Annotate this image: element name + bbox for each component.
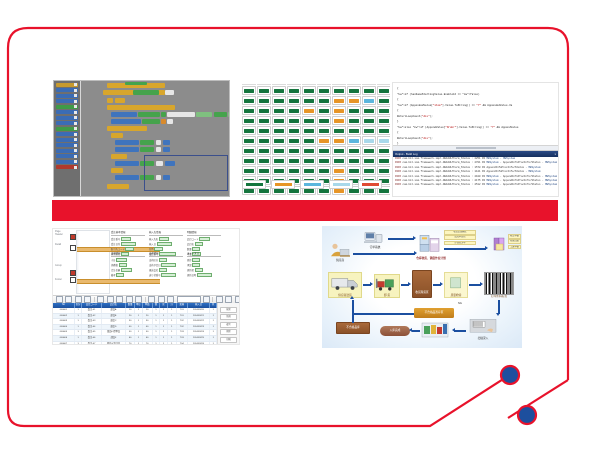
- status-cell[interactable]: [302, 106, 316, 115]
- data-grid-cell[interactable]: T02: [177, 319, 188, 324]
- data-grid-cell[interactable]: 1: [135, 308, 143, 313]
- workspace-block[interactable]: [214, 112, 227, 117]
- status-cell[interactable]: [302, 86, 316, 95]
- flow-node-order-system[interactable]: 订单系统: [362, 229, 388, 249]
- designer-field-value[interactable]: [192, 258, 200, 263]
- palette-block[interactable]: [56, 83, 78, 87]
- status-cell[interactable]: [347, 126, 361, 135]
- status-cell[interactable]: [347, 96, 361, 105]
- status-cell[interactable]: [257, 136, 271, 145]
- data-grid-cell[interactable]: 50: [126, 330, 135, 335]
- data-grid-cell[interactable]: 70: [126, 342, 135, 345]
- data-grid-cell[interactable]: 部品C: [102, 319, 127, 324]
- data-grid-cell[interactable]: 1: [160, 336, 168, 341]
- status-cell[interactable]: [302, 136, 316, 145]
- palette-block[interactable]: [56, 127, 78, 131]
- data-grid-row[interactable]: 0000071受注-07部品G 特注品70170111T042014/05/26…: [53, 342, 239, 345]
- status-cell[interactable]: [242, 146, 256, 155]
- palette-block[interactable]: [56, 149, 78, 153]
- data-grid-cell[interactable]: 部品B: [102, 314, 127, 319]
- designer-field-value[interactable]: [161, 273, 176, 278]
- palette-block[interactable]: [56, 116, 78, 120]
- data-grid-cell[interactable]: 1: [168, 342, 177, 345]
- status-cell[interactable]: [272, 126, 286, 135]
- designer-field-value[interactable]: [159, 268, 167, 273]
- workspace-block[interactable]: [111, 112, 137, 117]
- refresh-icon[interactable]: [203, 296, 210, 303]
- redo-icon[interactable]: [135, 296, 142, 303]
- status-cell[interactable]: [242, 136, 256, 145]
- data-grid-cell[interactable]: 1: [160, 314, 168, 319]
- flow-node-barcode-print[interactable]: 打印条码标签: [485, 272, 513, 298]
- palette-block[interactable]: [56, 88, 78, 92]
- data-grid-cell[interactable]: 1: [160, 330, 168, 335]
- workspace-block[interactable]: [115, 98, 125, 103]
- designer-field-row[interactable]: 送り状番号: [149, 273, 183, 278]
- data-grid-cell[interactable]: 部品D: [102, 325, 127, 330]
- data-grid-cell[interactable]: 2014/05/26: [188, 342, 210, 345]
- status-cell[interactable]: [377, 136, 390, 145]
- status-cell[interactable]: [377, 106, 390, 115]
- copy-icon[interactable]: [107, 296, 114, 303]
- status-cell[interactable]: [317, 146, 331, 155]
- data-grid-cell[interactable]: 2014/05/20: [188, 308, 210, 313]
- status-cell[interactable]: [332, 86, 346, 95]
- status-cell[interactable]: [317, 136, 331, 145]
- workspace-block[interactable]: [142, 119, 160, 124]
- status-cell[interactable]: [332, 96, 346, 105]
- data-grid-cell[interactable]: 1: [153, 314, 161, 319]
- workspace-block[interactable]: [140, 140, 154, 145]
- data-grid-cell[interactable]: T01: [177, 314, 188, 319]
- erp-data-grid[interactable]: No区分品目コード品目名数量単位単価税区計倉庫納入日状備考済 0000011受注…: [53, 303, 239, 344]
- flow-node-truck[interactable]: 供应商送货: [328, 272, 362, 298]
- data-grid-cell[interactable]: 1: [75, 308, 83, 313]
- data-grid-cell[interactable]: 部品E 標準品: [102, 330, 127, 335]
- status-cell[interactable]: [317, 116, 331, 125]
- status-cell[interactable]: [377, 156, 390, 165]
- data-grid-cell[interactable]: 1: [153, 330, 161, 335]
- data-grid-cell[interactable]: 2014/05/23: [188, 325, 210, 330]
- designer-field-value[interactable]: [121, 237, 131, 242]
- status-cell[interactable]: [257, 146, 271, 155]
- status-cell[interactable]: [362, 146, 376, 155]
- data-grid-cell[interactable]: 60: [126, 336, 135, 341]
- designer-field-value[interactable]: [159, 258, 167, 263]
- status-cell[interactable]: [347, 86, 361, 95]
- data-grid-cell[interactable]: 1: [75, 314, 83, 319]
- data-grid-cell[interactable]: 1: [153, 308, 161, 313]
- data-grid-cell[interactable]: 部品F: [102, 336, 127, 341]
- status-cell[interactable]: [272, 106, 286, 115]
- status-cell[interactable]: [287, 106, 301, 115]
- palette-block[interactable]: [56, 154, 78, 158]
- data-grid-cell[interactable]: 1: [75, 319, 83, 324]
- status-cell[interactable]: [272, 146, 286, 155]
- data-grid-cell[interactable]: 受注-02: [82, 314, 101, 319]
- status-cell[interactable]: [242, 106, 256, 115]
- data-grid-cell[interactable]: 2014/05/25: [188, 336, 210, 341]
- designer-field-value[interactable]: [159, 237, 169, 242]
- workspace-block[interactable]: [167, 112, 195, 117]
- data-grid-cell[interactable]: 30: [143, 319, 153, 324]
- designer-field-value[interactable]: [116, 258, 127, 263]
- status-cell[interactable]: [257, 96, 271, 105]
- workspace-block[interactable]: [107, 184, 129, 189]
- status-cell[interactable]: [287, 156, 301, 165]
- palette-block[interactable]: [56, 99, 78, 103]
- status-cell[interactable]: [362, 126, 376, 135]
- data-grid-body[interactable]: 0000011受注-01部品A10110111T012014/05/201OK1…: [53, 308, 239, 345]
- status-cell[interactable]: [347, 146, 361, 155]
- workspace-block[interactable]: [115, 140, 139, 145]
- status-cell[interactable]: [272, 156, 286, 165]
- data-grid-cell[interactable]: T03: [177, 336, 188, 341]
- flow-node-quality[interactable]: 质量检验: [444, 272, 468, 298]
- designer-field-value[interactable]: [195, 242, 203, 247]
- data-grid-cell[interactable]: 1: [168, 319, 177, 324]
- status-cell[interactable]: [272, 86, 286, 95]
- flow-node-putaway[interactable]: [420, 320, 450, 340]
- designer-field-value[interactable]: [199, 237, 210, 242]
- status-cell[interactable]: [302, 116, 316, 125]
- data-grid-cell[interactable]: 40: [126, 325, 135, 330]
- status-cell[interactable]: [332, 146, 346, 155]
- data-grid-cell[interactable]: 1: [160, 319, 168, 324]
- data-grid-cell[interactable]: 000002: [53, 314, 75, 319]
- sort-icon[interactable]: [158, 296, 165, 303]
- workspace-block[interactable]: [111, 154, 127, 159]
- data-grid-cell[interactable]: 1: [75, 330, 83, 335]
- designer-field-group[interactable]: 金額情報小計 消費税 合計金額 備考: [111, 251, 145, 278]
- status-cell[interactable]: [377, 166, 390, 175]
- workspace-block[interactable]: [125, 82, 147, 85]
- status-cell[interactable]: [257, 126, 271, 135]
- blocks-canvas[interactable]: [81, 81, 229, 196]
- flow-node-reject-store[interactable]: 不合格品库: [336, 322, 370, 334]
- status-cell[interactable]: [242, 96, 256, 105]
- status-cell[interactable]: [362, 136, 376, 145]
- status-cell[interactable]: [362, 116, 376, 125]
- status-cell[interactable]: [287, 136, 301, 145]
- export-icon[interactable]: [216, 296, 223, 303]
- erp-side-button[interactable]: 印刷: [220, 337, 237, 343]
- erp-side-button[interactable]: 新規: [220, 314, 237, 320]
- designer-field-value[interactable]: [121, 242, 136, 247]
- status-cell[interactable]: [362, 106, 376, 115]
- close-icon[interactable]: x: [555, 152, 556, 156]
- workspace-block[interactable]: [111, 119, 141, 124]
- status-cell[interactable]: [242, 166, 256, 175]
- data-grid-cell[interactable]: 受注-03: [82, 319, 101, 324]
- status-cell[interactable]: [332, 166, 346, 175]
- data-grid-cell[interactable]: 1: [168, 330, 177, 335]
- data-grid-cell[interactable]: 受注-01: [82, 308, 101, 313]
- data-grid-cell[interactable]: 1: [135, 314, 143, 319]
- status-cell[interactable]: [362, 96, 376, 105]
- status-cell[interactable]: [332, 136, 346, 145]
- status-cell[interactable]: [332, 156, 346, 165]
- data-grid-cell[interactable]: 部品G 特注品: [102, 342, 127, 345]
- workspace-block[interactable]: [107, 98, 113, 103]
- designer-field-value[interactable]: [161, 263, 176, 268]
- data-grid-cell[interactable]: 50: [143, 330, 153, 335]
- data-grid-cell[interactable]: 受注-07: [82, 342, 101, 345]
- status-cell[interactable]: [287, 96, 301, 105]
- status-cell[interactable]: [272, 96, 286, 105]
- flow-node-reject-area[interactable]: 不合格品暂存区: [414, 308, 454, 318]
- status-cell[interactable]: [347, 116, 361, 125]
- workspace-block[interactable]: [115, 161, 139, 166]
- flow-node-warehouse-plan[interactable]: 仓库收货、调度作业计划: [418, 230, 444, 260]
- status-cell[interactable]: [272, 166, 286, 175]
- data-grid-cell[interactable]: T01: [177, 308, 188, 313]
- data-grid-cell[interactable]: 60: [143, 336, 153, 341]
- designer-field-group[interactable]: 出荷情報出荷区分 出荷予定日 運送会社 送り状番号: [149, 251, 183, 278]
- code-text-area[interactable]: { "kw">if (hasSameStartingValue.EnableAt…: [393, 83, 558, 145]
- workspace-block[interactable]: [228, 112, 230, 117]
- form-designer-surface[interactable]: Page Header Detail Group Footer 受注基本情報受注…: [53, 229, 239, 294]
- print-icon[interactable]: [84, 296, 91, 303]
- flow-node-unload[interactable]: 卸 货: [374, 274, 400, 298]
- status-cell[interactable]: [257, 86, 271, 95]
- data-grid-cell[interactable]: T04: [177, 342, 188, 345]
- palette-block[interactable]: [56, 94, 78, 98]
- status-cell[interactable]: [362, 166, 376, 175]
- designer-field-value[interactable]: [119, 263, 128, 268]
- code-editor-panel[interactable]: { "kw">if (hasSameStartingValue.EnableAt…: [392, 82, 559, 197]
- find-icon[interactable]: [167, 296, 174, 303]
- data-grid-cell[interactable]: 000007: [53, 342, 75, 345]
- data-grid-cell[interactable]: 1: [135, 330, 143, 335]
- status-cell[interactable]: [302, 146, 316, 155]
- help-icon[interactable]: [235, 296, 240, 303]
- workspace-block[interactable]: [111, 133, 123, 138]
- build-log-rows[interactable]: INFO com.bit.ssm.framework.impl.DEFAULTF…: [393, 157, 558, 188]
- status-cell[interactable]: [242, 126, 256, 135]
- flow-node-books[interactable]: [490, 234, 510, 256]
- data-grid-cell[interactable]: 1: [75, 325, 83, 330]
- status-cell[interactable]: [347, 106, 361, 115]
- status-cell[interactable]: [332, 126, 346, 135]
- data-grid-cell[interactable]: 40: [143, 325, 153, 330]
- palette-block[interactable]: [56, 143, 78, 147]
- data-grid-cell[interactable]: 1: [168, 325, 177, 330]
- status-cell[interactable]: [332, 106, 346, 115]
- data-grid-cell[interactable]: 20: [143, 314, 153, 319]
- open-icon[interactable]: [65, 296, 72, 303]
- erp-side-button-bar[interactable]: 検索新規複写削除印刷終了: [217, 303, 239, 344]
- palette-block[interactable]: [56, 110, 78, 114]
- workspace-block[interactable]: [140, 147, 154, 152]
- data-grid-cell[interactable]: 000001: [53, 308, 75, 313]
- flow-node-supplier[interactable]: 供应商: [328, 240, 352, 262]
- workspace-block[interactable]: [163, 140, 170, 145]
- workspace-block[interactable]: [196, 112, 212, 117]
- blocks-editor-panel[interactable]: [53, 80, 230, 197]
- data-grid-cell[interactable]: 30: [126, 319, 135, 324]
- palette-block[interactable]: [56, 105, 78, 109]
- status-cell[interactable]: [362, 156, 376, 165]
- designer-field-row[interactable]: 更新日時: [187, 273, 221, 278]
- erp-side-button[interactable]: 削除: [220, 329, 237, 335]
- palette-block[interactable]: [56, 121, 78, 125]
- toolbar-combo[interactable]: [177, 296, 201, 303]
- data-grid-cell[interactable]: 1: [160, 308, 168, 313]
- workspace-block[interactable]: [133, 90, 159, 95]
- workspace-block[interactable]: [165, 90, 174, 95]
- status-cell[interactable]: [287, 86, 301, 95]
- data-grid-cell[interactable]: 受注-05: [82, 330, 101, 335]
- status-cell[interactable]: [302, 126, 316, 135]
- status-cell[interactable]: [257, 156, 271, 165]
- status-grid-panel[interactable]: [240, 84, 390, 196]
- data-grid-cell[interactable]: 10: [126, 308, 135, 313]
- new-icon[interactable]: [56, 296, 63, 303]
- status-cell[interactable]: [317, 126, 331, 135]
- filter-icon[interactable]: [148, 296, 155, 303]
- flow-node-done[interactable]: 入库完成: [380, 326, 410, 336]
- flow-node-scan[interactable]: 扫描录入: [468, 316, 498, 340]
- designer-field-value[interactable]: [195, 268, 204, 273]
- build-log-panel[interactable]: Output - Build Log x INFO com.bit.ssm.fr…: [393, 150, 558, 197]
- status-cell[interactable]: [347, 136, 361, 145]
- status-cell[interactable]: [272, 136, 286, 145]
- erp-side-button[interactable]: 終了: [220, 344, 237, 345]
- erp-designer-panel[interactable]: Page Header Detail Group Footer 受注基本情報受注…: [52, 228, 240, 345]
- designer-field-value[interactable]: [157, 242, 172, 247]
- data-grid-cell[interactable]: 1: [153, 325, 161, 330]
- data-grid-cell[interactable]: 1: [75, 336, 83, 341]
- workspace-block[interactable]: [111, 168, 123, 173]
- status-cell[interactable]: [242, 86, 256, 95]
- erp-side-button[interactable]: 複写: [220, 322, 237, 328]
- data-grid-cell[interactable]: 20: [126, 314, 135, 319]
- status-cell[interactable]: [287, 146, 301, 155]
- designer-field-value[interactable]: [121, 268, 132, 273]
- palette-block[interactable]: [56, 132, 78, 136]
- data-grid-cell[interactable]: 1: [153, 336, 161, 341]
- status-cell[interactable]: [302, 96, 316, 105]
- status-cell[interactable]: [377, 96, 390, 105]
- status-cell[interactable]: [347, 166, 361, 175]
- status-cell[interactable]: [377, 126, 390, 135]
- status-cell[interactable]: [332, 116, 346, 125]
- status-grid-cells[interactable]: [242, 86, 390, 195]
- data-grid-cell[interactable]: 1: [75, 342, 83, 345]
- designer-field-group[interactable]: ステータス進捗 承認 更新者 更新日時: [187, 251, 221, 278]
- data-grid-cell[interactable]: 000006: [53, 336, 75, 341]
- status-cell[interactable]: [257, 166, 271, 175]
- status-cell[interactable]: [302, 166, 316, 175]
- data-grid-cell[interactable]: 1: [168, 308, 177, 313]
- palette-block[interactable]: [56, 165, 78, 169]
- data-grid-cell[interactable]: 1: [135, 342, 143, 345]
- section-band[interactable]: [77, 279, 160, 284]
- workspace-block[interactable]: [115, 147, 139, 152]
- data-grid-cell[interactable]: 000003: [53, 319, 75, 324]
- data-grid-cell[interactable]: 000005: [53, 330, 75, 335]
- data-grid-cell[interactable]: 受注-04: [82, 325, 101, 330]
- save-icon[interactable]: [75, 296, 82, 303]
- workspace-block[interactable]: [156, 147, 161, 152]
- workspace-block[interactable]: [156, 140, 161, 145]
- status-cell[interactable]: [242, 156, 256, 165]
- designer-field-row[interactable]: 備考: [111, 273, 145, 278]
- data-grid-cell[interactable]: 2014/05/22: [188, 319, 210, 324]
- status-cell[interactable]: [377, 86, 390, 95]
- data-grid-cell[interactable]: 2014/05/21: [188, 314, 210, 319]
- data-grid-cell[interactable]: T03: [177, 330, 188, 335]
- data-grid-cell[interactable]: 1: [168, 314, 177, 319]
- erp-side-button[interactable]: 検索: [220, 307, 237, 313]
- workspace-block[interactable]: [107, 126, 147, 131]
- logistics-flow-panel[interactable]: 供应商 订单系统: [322, 226, 522, 348]
- palette-block[interactable]: [56, 160, 78, 164]
- data-grid-cell[interactable]: 1: [153, 319, 161, 324]
- status-cell[interactable]: [347, 156, 361, 165]
- workspace-block[interactable]: [161, 112, 166, 117]
- data-grid-cell[interactable]: 70: [143, 342, 153, 345]
- data-grid-cell[interactable]: 部品A: [102, 308, 127, 313]
- workspace-block[interactable]: [163, 147, 170, 152]
- status-cell[interactable]: [317, 166, 331, 175]
- data-grid-cell[interactable]: 1: [168, 336, 177, 341]
- undo-icon[interactable]: [126, 296, 133, 303]
- workspace-block[interactable]: [115, 175, 139, 180]
- data-grid-cell[interactable]: 1: [135, 319, 143, 324]
- data-grid-cell[interactable]: 1: [160, 325, 168, 330]
- designer-field-value[interactable]: [116, 273, 124, 278]
- flow-node-inspect-area[interactable]: 收货理货区: [412, 270, 432, 298]
- status-cell[interactable]: [287, 166, 301, 175]
- status-cell[interactable]: [317, 86, 331, 95]
- data-grid-cell[interactable]: 1: [153, 342, 161, 345]
- status-cell[interactable]: [302, 156, 316, 165]
- status-cell[interactable]: [317, 156, 331, 165]
- designer-field-value[interactable]: [192, 263, 200, 268]
- status-cell[interactable]: [242, 116, 256, 125]
- blocks-palette[interactable]: [54, 81, 81, 196]
- data-grid-cell[interactable]: 1: [135, 325, 143, 330]
- workspace-block[interactable]: [107, 105, 175, 110]
- data-grid-cell[interactable]: T02: [177, 325, 188, 330]
- status-cell[interactable]: [257, 106, 271, 115]
- data-grid-cell[interactable]: 000004: [53, 325, 75, 330]
- data-grid-cell[interactable]: 2014/05/24: [188, 330, 210, 335]
- status-cell[interactable]: [377, 116, 390, 125]
- designer-field-value[interactable]: [197, 273, 212, 278]
- status-cell[interactable]: [287, 126, 301, 135]
- workspace-block[interactable]: [167, 119, 173, 124]
- data-grid-cell[interactable]: 10: [143, 308, 153, 313]
- data-grid-cell[interactable]: 1: [135, 336, 143, 341]
- data-grid-cell[interactable]: 1: [160, 342, 168, 345]
- paste-icon[interactable]: [116, 296, 123, 303]
- status-cell[interactable]: [377, 146, 390, 155]
- cut-icon[interactable]: [97, 296, 104, 303]
- status-cell[interactable]: [317, 106, 331, 115]
- status-cell[interactable]: [362, 86, 376, 95]
- workspace-block[interactable]: [138, 112, 160, 117]
- status-cell[interactable]: [272, 116, 286, 125]
- status-cell[interactable]: [287, 116, 301, 125]
- workspace-block[interactable]: [161, 119, 166, 124]
- status-cell[interactable]: [317, 96, 331, 105]
- status-cell[interactable]: [257, 116, 271, 125]
- data-grid-cell[interactable]: 受注-06: [82, 336, 101, 341]
- palette-block[interactable]: [56, 138, 78, 142]
